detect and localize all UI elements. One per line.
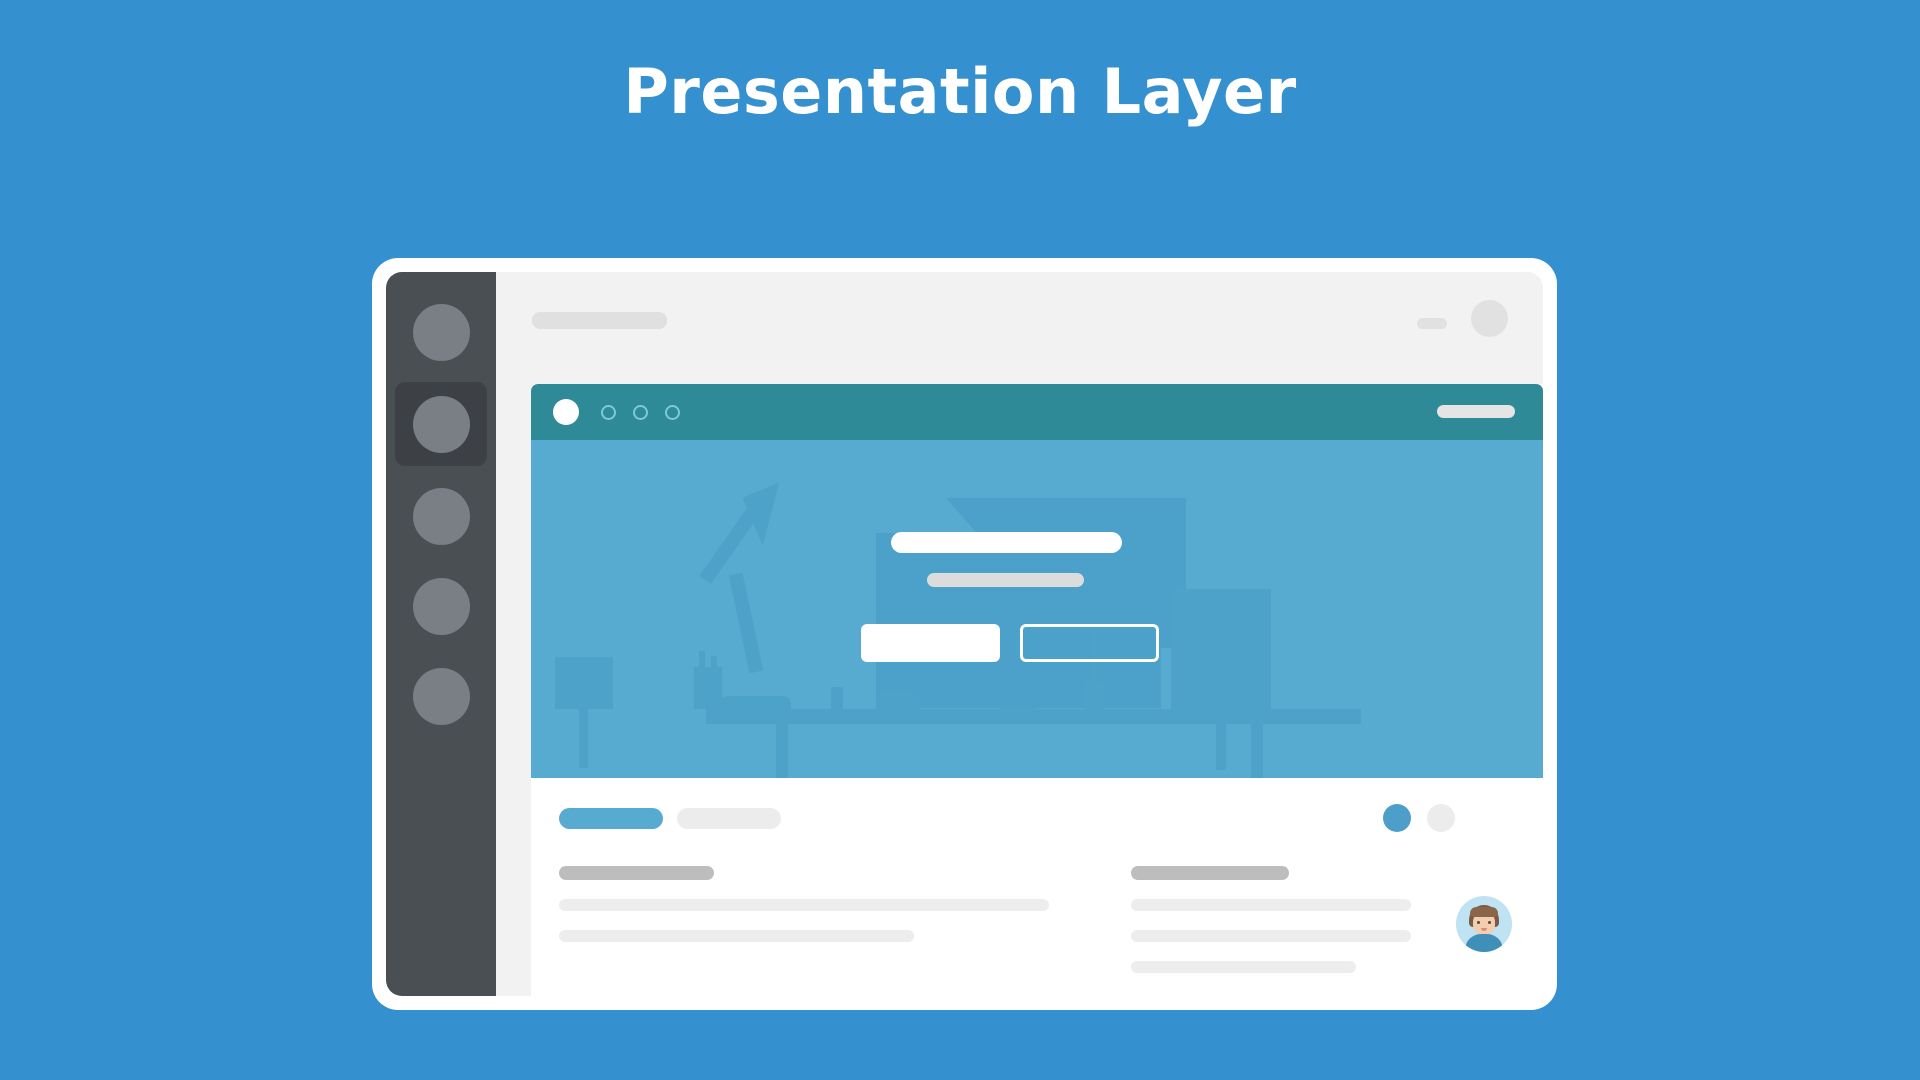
device-screen bbox=[386, 272, 1543, 996]
left-column-heading-placeholder bbox=[559, 866, 714, 880]
illustration-lamp-arm-upper bbox=[699, 502, 762, 584]
app-chrome-bar bbox=[496, 272, 1543, 384]
illustration-desk-leg-left bbox=[776, 722, 788, 778]
sidebar-icon-5 bbox=[413, 668, 470, 725]
avatar-eye-right bbox=[1488, 921, 1491, 924]
hero-subheadline-placeholder bbox=[927, 573, 1084, 587]
right-column-line-2 bbox=[1131, 930, 1411, 942]
chrome-avatar-icon[interactable] bbox=[1471, 300, 1508, 337]
right-column-heading-placeholder bbox=[1131, 866, 1289, 880]
illustration-desk-leg-right bbox=[1251, 722, 1263, 778]
avatar-eye-left bbox=[1477, 921, 1480, 924]
sidebar-icon-2 bbox=[413, 396, 470, 453]
user-avatar[interactable] bbox=[1453, 893, 1515, 955]
tab-bar bbox=[559, 808, 781, 829]
illustration-pen-1 bbox=[699, 651, 705, 673]
pager-dot-2[interactable] bbox=[1427, 804, 1455, 832]
sidebar-icon-1 bbox=[413, 304, 470, 361]
browser-dot-filled-icon[interactable] bbox=[553, 399, 579, 425]
hero-button-group bbox=[861, 624, 1191, 662]
app-sidebar bbox=[386, 272, 496, 996]
illustration-small-item bbox=[831, 687, 843, 709]
sidebar-icon-4 bbox=[413, 578, 470, 635]
left-column-line-1 bbox=[559, 899, 1049, 911]
sidebar-item-1[interactable] bbox=[386, 290, 496, 374]
page-title: Presentation Layer bbox=[0, 58, 1920, 126]
tab-2[interactable] bbox=[677, 808, 781, 829]
hero-banner bbox=[531, 440, 1543, 778]
sidebar-item-4[interactable] bbox=[386, 564, 496, 648]
pager-dot-1[interactable] bbox=[1383, 804, 1411, 832]
avatar-fringe bbox=[1470, 907, 1498, 917]
app-title-placeholder bbox=[532, 312, 667, 329]
tablet-device-frame bbox=[372, 258, 1557, 1010]
content-right-column bbox=[1131, 866, 1411, 973]
app-main bbox=[496, 272, 1543, 996]
browser-dot-ring-1-icon[interactable] bbox=[601, 405, 616, 420]
sidebar-item-2[interactable] bbox=[395, 382, 487, 466]
pagination-dots bbox=[1383, 804, 1455, 832]
avatar-shirt bbox=[1465, 934, 1503, 952]
hero-primary-button[interactable] bbox=[861, 624, 1000, 662]
right-column-line-3 bbox=[1131, 961, 1356, 973]
hero-secondary-button[interactable] bbox=[1020, 624, 1159, 662]
illustration-pen-cup bbox=[694, 667, 722, 709]
illustration-pen-2 bbox=[711, 656, 717, 673]
avatar-image bbox=[1456, 896, 1512, 952]
content-section bbox=[531, 778, 1543, 993]
sidebar-item-3[interactable] bbox=[386, 474, 496, 558]
minimize-button[interactable] bbox=[1417, 318, 1447, 329]
left-column-line-2 bbox=[559, 930, 914, 942]
browser-dot-ring-3-icon[interactable] bbox=[665, 405, 680, 420]
illustration-lamp-arm-lower bbox=[729, 573, 763, 674]
content-left-column bbox=[559, 866, 1049, 942]
browser-address-pill[interactable] bbox=[1437, 405, 1515, 418]
illustration-mouse bbox=[876, 692, 920, 709]
browser-window bbox=[531, 384, 1543, 996]
sidebar-icon-3 bbox=[413, 488, 470, 545]
browser-dot-ring-2-icon[interactable] bbox=[633, 405, 648, 420]
right-column-line-1 bbox=[1131, 899, 1411, 911]
illustration-box-left-stem bbox=[579, 706, 588, 768]
tab-1[interactable] bbox=[559, 808, 663, 829]
browser-toolbar bbox=[531, 384, 1543, 440]
hero-headline-placeholder bbox=[891, 532, 1122, 553]
sidebar-item-5[interactable] bbox=[386, 654, 496, 738]
illustration-box-left bbox=[555, 657, 613, 709]
hero-copy-block bbox=[891, 532, 1191, 662]
